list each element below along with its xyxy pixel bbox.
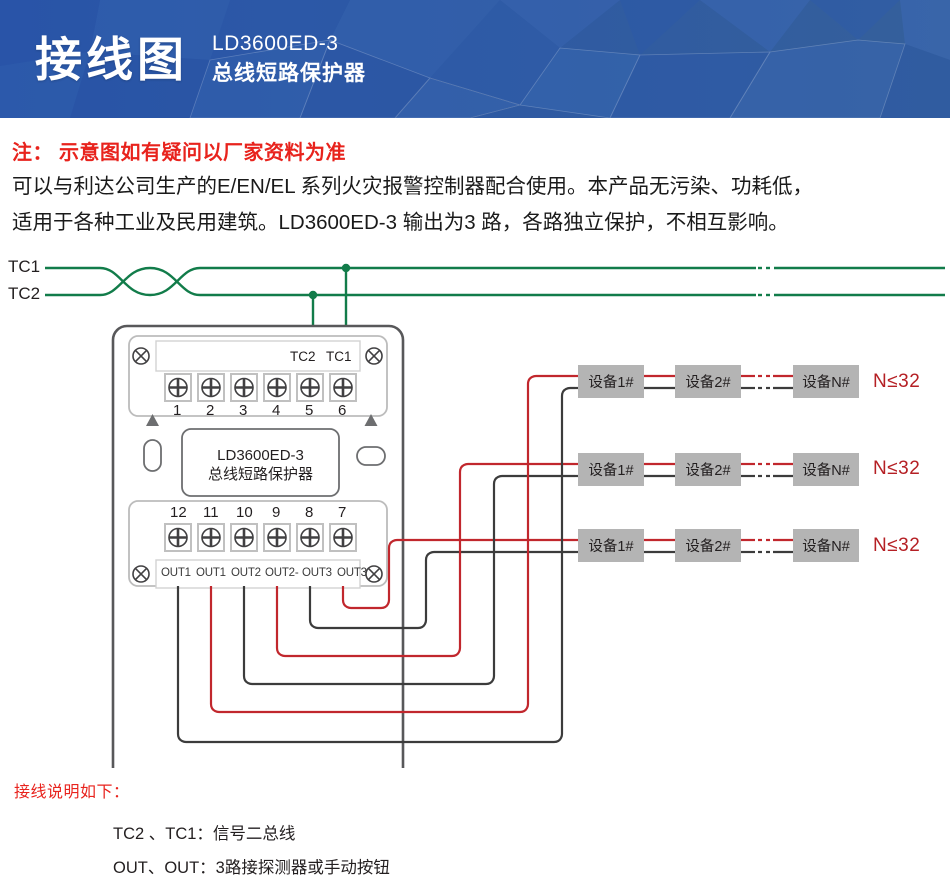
bus-label-tc2: TC2	[8, 284, 40, 304]
device-limit-loop3: N≤32	[873, 535, 920, 557]
bus-label-tc1: TC1	[8, 257, 40, 277]
module-model-text: LD3600ED-3	[182, 446, 339, 465]
module-nameplate: LD3600ED-3 总线短路保护器	[182, 446, 339, 484]
terminal-number-6: 6	[338, 402, 346, 419]
device-box-loop3-2: 设备2#	[675, 529, 741, 562]
legend-row-bus: TC2 、TC1：信号二总线	[113, 820, 295, 844]
terminal-number-9: 9	[272, 504, 280, 521]
device-box-loop1-n: 设备N#	[793, 365, 859, 398]
module-product-text: 总线短路保护器	[182, 465, 339, 484]
device-box-loop2-n: 设备N#	[793, 453, 859, 486]
legend-title: 接线说明如下：	[14, 778, 130, 802]
device-box-loop2-2: 设备2#	[675, 453, 741, 486]
device-box-loop3-n: 设备N#	[793, 529, 859, 562]
terminal-number-10: 10	[236, 504, 253, 521]
device-box-loop3-1: 设备1#	[578, 529, 644, 562]
terminal-number-12: 12	[170, 504, 187, 521]
device-box-loop1-2: 设备2#	[675, 365, 741, 398]
page-header-banner: 接线图 LD3600ED-3 总线短路保护器	[0, 0, 950, 118]
module-port-label-tc1: TC1	[326, 349, 352, 364]
out-label-1: OUT1	[161, 567, 191, 579]
notice-warning: 注： 示意图如有疑问以厂家资料为准	[12, 136, 346, 165]
device-limit-loop1: N≤32	[873, 371, 920, 393]
out-label-2: OUT1	[196, 567, 226, 579]
banner-title: 接线图	[35, 36, 188, 83]
banner-product-name: 总线短路保护器	[212, 59, 366, 89]
terminal-number-7: 7	[338, 504, 346, 521]
device-box-loop1-1: 设备1#	[578, 365, 644, 398]
banner-subtitle-group: LD3600ED-3 总线短路保护器	[212, 29, 366, 89]
device-limit-loop2: N≤32	[873, 458, 920, 480]
terminal-number-11: 11	[203, 504, 219, 521]
terminal-number-4: 4	[272, 402, 280, 419]
terminal-number-5: 5	[305, 402, 313, 419]
banner-model: LD3600ED-3	[212, 29, 366, 59]
terminal-number-1: 1	[173, 402, 181, 419]
notice-paragraph-line-2: 适用于各种工业及民用建筑。LD3600ED-3 输出为3 路，各路独立保护，不相…	[12, 205, 942, 241]
terminal-number-3: 3	[239, 402, 247, 419]
notice-paragraph-line-1: 可以与利达公司生产的E/EN/EL 系列火灾报警控制器配合使用。本产品无污染、功…	[12, 169, 942, 205]
terminal-number-8: 8	[305, 504, 313, 521]
bus-lines	[45, 268, 945, 326]
module-port-label-tc2: TC2	[290, 349, 316, 364]
wiring-diagram: TC1 TC2 TC2 TC1 1 2 3 4 5 6 12 11 10 9 8…	[0, 248, 950, 768]
device-box-loop2-1: 设备1#	[578, 453, 644, 486]
out-label-6: OUT3	[337, 567, 367, 579]
out-label-3: OUT2	[231, 567, 261, 579]
terminal-number-2: 2	[206, 402, 214, 419]
out-label-5: OUT3	[302, 567, 332, 579]
legend-row-out: OUT、OUT：3路接探测器或手动按钮	[113, 854, 390, 878]
out-label-4: OUT2-	[265, 567, 299, 579]
wiring-diagram-svg	[0, 248, 950, 768]
